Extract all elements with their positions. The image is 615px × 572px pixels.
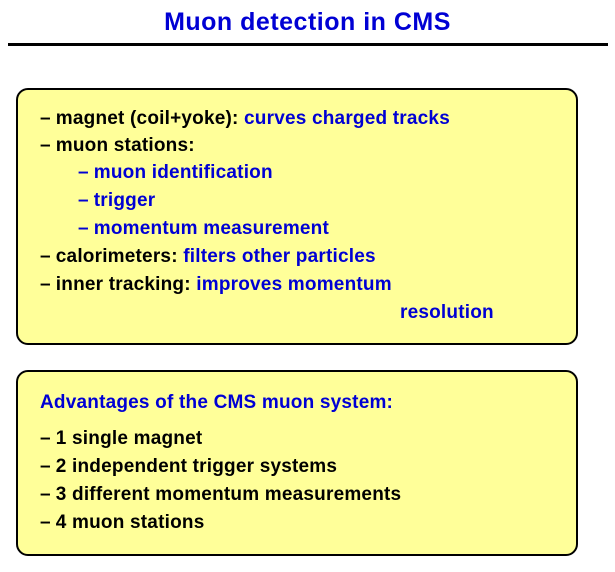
bullet-dash: – xyxy=(40,512,51,533)
advantage-item-4: –4 muon stations xyxy=(40,512,204,534)
subbullet-trigger-label: trigger xyxy=(94,190,156,211)
bullet-dash: – xyxy=(78,218,89,239)
advantage-item-3-label: 3 different momentum measurements xyxy=(56,484,402,505)
advantage-item-1-label: 1 single magnet xyxy=(56,428,203,449)
bullet-dash: – xyxy=(40,108,51,129)
bullet-magnet: –magnet (coil+yoke): curves charged trac… xyxy=(40,108,450,130)
subbullet-muon-identification-label: muon identification xyxy=(94,162,273,183)
bullet-inner-tracking-continuation: resolution xyxy=(400,302,494,324)
title-divider xyxy=(8,43,608,46)
bullet-dash: – xyxy=(40,428,51,449)
advantages-box: Advantages of the CMS muon system: –1 si… xyxy=(16,370,578,556)
bullet-inner-tracking-value: improves momentum xyxy=(196,274,392,295)
subbullet-momentum-measurement-label: momentum measurement xyxy=(94,218,329,239)
bullet-calorimeters-value: filters other particles xyxy=(183,246,376,267)
advantage-item-4-label: 4 muon stations xyxy=(56,512,205,533)
bullet-dash: – xyxy=(40,484,51,505)
advantages-heading: Advantages of the CMS muon system: xyxy=(40,392,393,414)
advantage-item-2: –2 independent trigger systems xyxy=(40,456,337,478)
bullet-dash: – xyxy=(40,246,51,267)
bullet-calorimeters: –calorimeters: filters other particles xyxy=(40,246,376,268)
advantage-item-3: –3 different momentum measurements xyxy=(40,484,401,506)
bullet-inner-tracking: –inner tracking: improves momentum xyxy=(40,274,392,296)
bullet-dash: – xyxy=(78,190,89,211)
subbullet-momentum-measurement: –momentum measurement xyxy=(78,218,329,240)
bullet-muon-stations-label: muon stations: xyxy=(56,135,195,156)
slide: Muon detection in CMS –magnet (coil+yoke… xyxy=(0,0,615,572)
bullet-magnet-label: magnet (coil+yoke): xyxy=(56,108,239,129)
muon-detection-box: –magnet (coil+yoke): curves charged trac… xyxy=(16,88,578,345)
bullet-dash: – xyxy=(40,274,51,295)
bullet-muon-stations: –muon stations: xyxy=(40,135,195,157)
bullet-dash: – xyxy=(40,135,51,156)
bullet-magnet-value: curves charged tracks xyxy=(244,108,450,129)
subbullet-trigger: –trigger xyxy=(78,190,155,212)
bullet-calorimeters-label: calorimeters: xyxy=(56,246,178,267)
subbullet-muon-identification: –muon identification xyxy=(78,162,273,184)
bullet-dash: – xyxy=(78,162,89,183)
advantage-item-2-label: 2 independent trigger systems xyxy=(56,456,337,477)
advantage-item-1: –1 single magnet xyxy=(40,428,202,450)
page-title: Muon detection in CMS xyxy=(0,7,615,37)
bullet-inner-tracking-label: inner tracking: xyxy=(56,274,191,295)
bullet-dash: – xyxy=(40,456,51,477)
